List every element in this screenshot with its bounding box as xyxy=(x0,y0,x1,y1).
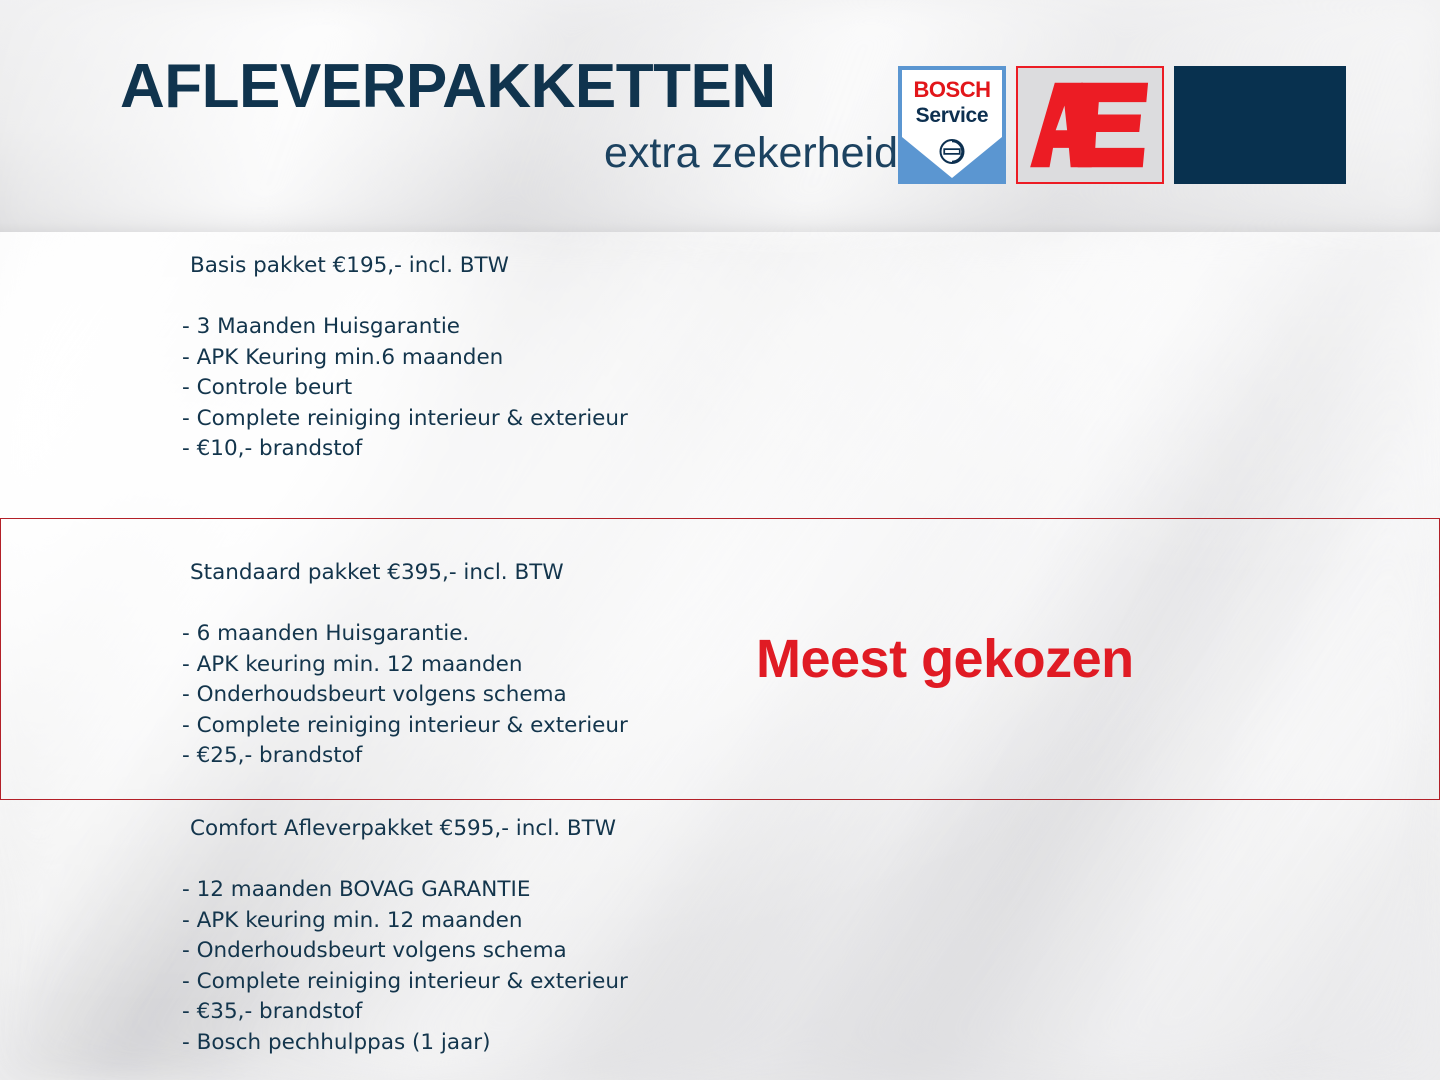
package-item: - Onderhoudsbeurt volgens schema xyxy=(182,936,628,967)
package-block-comfort: Comfort Afleverpakket €595,- incl. BTW -… xyxy=(182,815,628,1058)
package-item: - Complete reiniging interieur & exterie… xyxy=(182,711,628,742)
navy-logo-block xyxy=(1174,66,1346,184)
ae-logo xyxy=(1016,66,1164,184)
title-block: AFLEVERPAKKETTEN extra zekerheid xyxy=(120,56,898,178)
spacer xyxy=(182,280,628,312)
package-block-basis: Basis pakket €195,- incl. BTW - 3 Maande… xyxy=(182,252,628,465)
package-item: - Bosch pechhulppas (1 jaar) xyxy=(182,1028,628,1059)
bosch-service-logo: BOSCH Service xyxy=(898,66,1006,184)
bosch-armature-icon xyxy=(939,138,966,165)
ae-lettermark-icon xyxy=(1028,81,1152,169)
slide-canvas: AFLEVERPAKKETTEN extra zekerheid BOSCH S… xyxy=(0,0,1440,1080)
package-item: - €35,- brandstof xyxy=(182,997,628,1028)
package-item: - APK keuring min. 12 maanden xyxy=(182,650,628,681)
package-heading: Basis pakket €195,- incl. BTW xyxy=(190,252,628,280)
package-block-standaard: Standaard pakket €395,- incl. BTW - 6 ma… xyxy=(182,559,628,772)
package-item: - Complete reiniging interieur & exterie… xyxy=(182,404,628,435)
package-heading: Comfort Afleverpakket €595,- incl. BTW xyxy=(190,815,628,843)
logo-row: BOSCH Service xyxy=(898,66,1346,184)
most-chosen-badge: Meest gekozen xyxy=(756,630,1134,688)
page-title: AFLEVERPAKKETTEN xyxy=(120,56,898,118)
bosch-service-wordmark: Service xyxy=(898,105,1006,126)
package-heading: Standaard pakket €395,- incl. BTW xyxy=(190,559,628,587)
package-item: - 12 maanden BOVAG GARANTIE xyxy=(182,875,628,906)
bosch-wordmark: BOSCH xyxy=(898,79,1006,101)
package-item: - Controle beurt xyxy=(182,373,628,404)
spacer xyxy=(182,843,628,875)
package-item: - Onderhoudsbeurt volgens schema xyxy=(182,680,628,711)
package-item: - APK Keuring min.6 maanden xyxy=(182,343,628,374)
package-item: - Complete reiniging interieur & exterie… xyxy=(182,967,628,998)
header: AFLEVERPAKKETTEN extra zekerheid BOSCH S… xyxy=(0,0,1440,232)
package-item: - 6 maanden Huisgarantie. xyxy=(182,619,628,650)
page-subtitle: extra zekerheid xyxy=(120,128,898,178)
package-item: - €10,- brandstof xyxy=(182,434,628,465)
package-item: - €25,- brandstof xyxy=(182,741,628,772)
package-item: - 3 Maanden Huisgarantie xyxy=(182,312,628,343)
package-item: - APK keuring min. 12 maanden xyxy=(182,906,628,937)
spacer xyxy=(182,587,628,619)
